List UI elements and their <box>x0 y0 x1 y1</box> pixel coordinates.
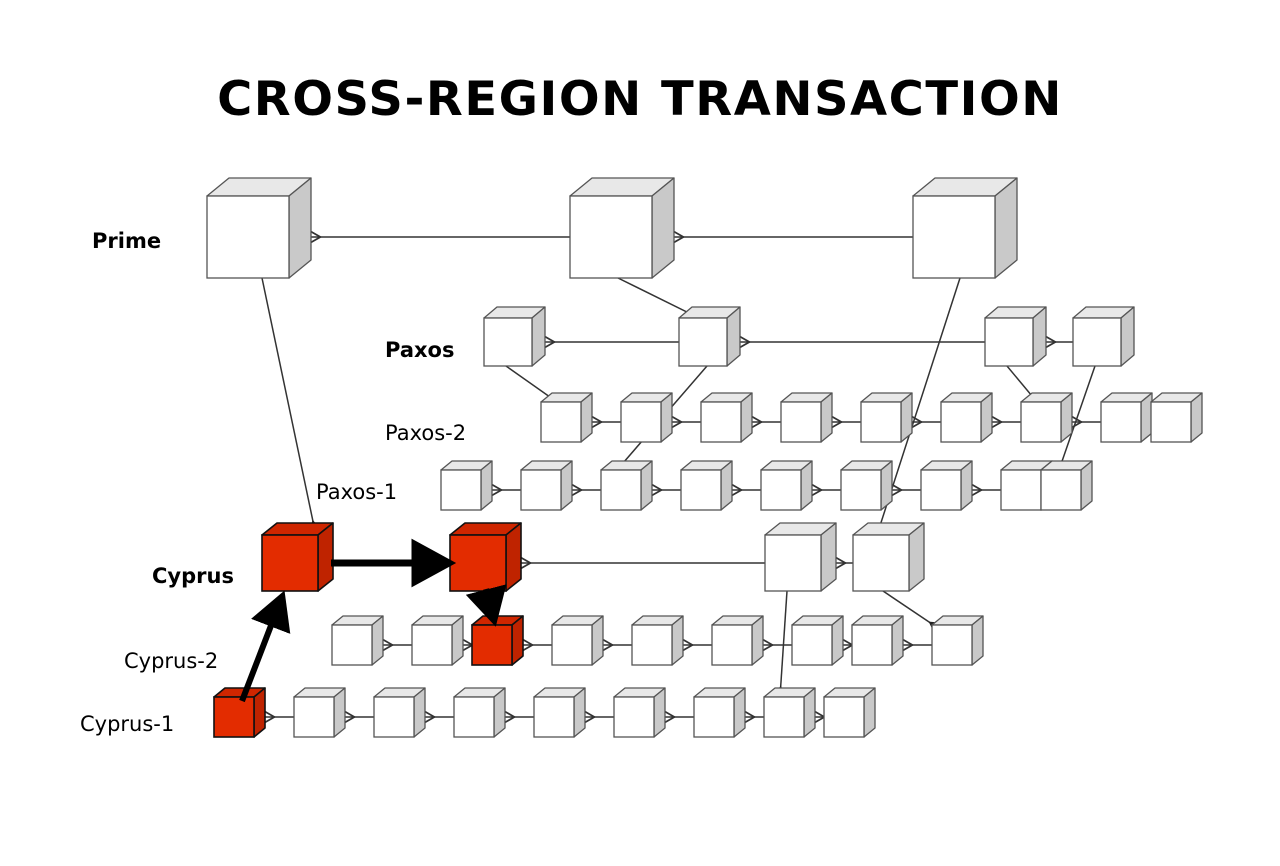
cube-cyprus-1-8[interactable] <box>764 688 815 737</box>
row-label-cyprus-2: Cyprus-2 <box>124 651 218 672</box>
cube-paxos-2-1[interactable] <box>541 393 592 442</box>
row-label-paxos-2: Paxos-2 <box>385 423 466 444</box>
cube-paxos-1[interactable] <box>484 307 545 366</box>
cube-paxos-4[interactable] <box>1073 307 1134 366</box>
bold-arrow-cyprus1-to-cyprus <box>242 597 282 701</box>
cube-paxos-2-6[interactable] <box>941 393 992 442</box>
cube-paxos-1-7[interactable] <box>921 461 972 510</box>
cube-paxos-1-4[interactable] <box>681 461 732 510</box>
cube-cyprus-1-5[interactable] <box>534 688 585 737</box>
cube-paxos-1-2[interactable] <box>521 461 572 510</box>
cube-cyprus-2-3[interactable] <box>472 616 523 665</box>
cube-paxos-1-1[interactable] <box>441 461 492 510</box>
cube-cyprus-2-4[interactable] <box>552 616 603 665</box>
cube-cyprus-2-9[interactable] <box>932 616 983 665</box>
link-prime1-to-cyprus1 <box>262 278 315 531</box>
cube-cyprus-4[interactable] <box>853 523 924 591</box>
cube-cyprus-1-1[interactable] <box>214 688 265 737</box>
cube-paxos-2[interactable] <box>679 307 740 366</box>
cube-cyprus-2-1[interactable] <box>332 616 383 665</box>
cube-prime-2[interactable] <box>570 178 674 278</box>
cube-paxos-1-3[interactable] <box>601 461 652 510</box>
cube-cyprus-3[interactable] <box>765 523 836 591</box>
row-label-cyprus: Cyprus <box>152 566 234 587</box>
cubes-layer <box>207 178 1202 737</box>
cube-cyprus-2-5[interactable] <box>632 616 683 665</box>
cube-cyprus-1-9[interactable] <box>824 688 875 737</box>
cube-paxos-2-4[interactable] <box>781 393 832 442</box>
row-label-paxos: Paxos <box>385 340 454 361</box>
cube-cyprus-2-6[interactable] <box>712 616 763 665</box>
cube-cyprus-1-4[interactable] <box>454 688 505 737</box>
cube-cyprus-2-7[interactable] <box>792 616 843 665</box>
cube-prime-1[interactable] <box>207 178 311 278</box>
cube-paxos-2-8[interactable] <box>1101 393 1152 442</box>
cube-paxos-1-9[interactable] <box>1041 461 1092 510</box>
cube-paxos-2-5[interactable] <box>861 393 912 442</box>
cube-cyprus-1-6[interactable] <box>614 688 665 737</box>
cube-cyprus-2[interactable] <box>450 523 521 591</box>
link-cyprus3-to-cyprus1row8 <box>780 591 787 697</box>
row-label-prime: Prime <box>92 231 161 252</box>
cube-prime-3[interactable] <box>913 178 1017 278</box>
row-label-paxos-1: Paxos-1 <box>316 482 397 503</box>
cube-paxos-1-6[interactable] <box>841 461 892 510</box>
cube-paxos-2-3[interactable] <box>701 393 752 442</box>
cube-cyprus-2-2[interactable] <box>412 616 463 665</box>
cube-cyprus-1-3[interactable] <box>374 688 425 737</box>
cube-cyprus-1-2[interactable] <box>294 688 345 737</box>
cube-paxos-3[interactable] <box>985 307 1046 366</box>
diagram-canvas <box>0 0 1280 866</box>
cube-paxos-2-7[interactable] <box>1021 393 1072 442</box>
cube-cyprus-1-7[interactable] <box>694 688 745 737</box>
cube-cyprus-2-8[interactable] <box>852 616 903 665</box>
cube-paxos-2-2[interactable] <box>621 393 672 442</box>
cube-paxos-1-5[interactable] <box>761 461 812 510</box>
cube-paxos-2-9[interactable] <box>1151 393 1202 442</box>
cube-cyprus-1[interactable] <box>262 523 333 591</box>
row-label-cyprus-1: Cyprus-1 <box>80 714 174 735</box>
